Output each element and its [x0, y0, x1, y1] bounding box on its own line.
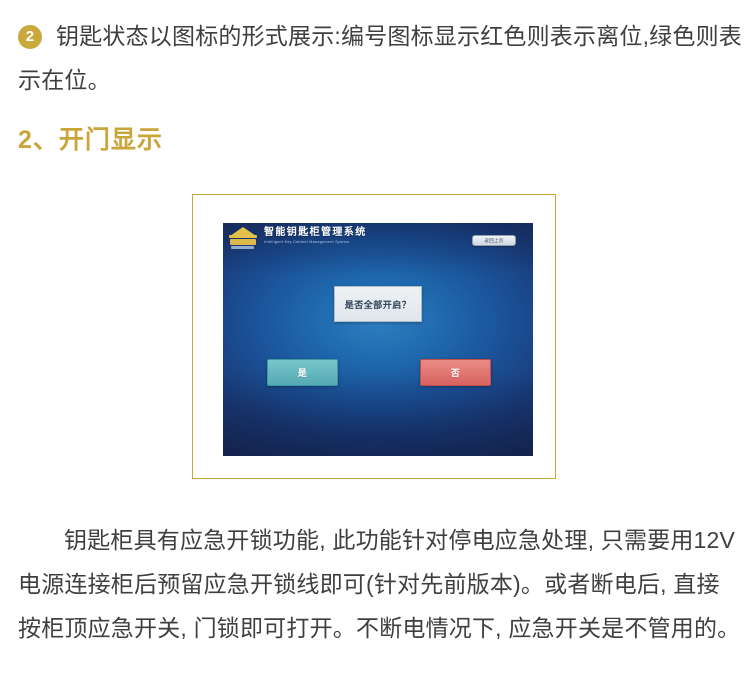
- confirm-dialog-message: 是否全部开启？: [345, 298, 412, 311]
- device-title: 智能钥匙柜管理系统: [264, 227, 367, 239]
- pagoda-roof-logo-icon: [229, 226, 259, 252]
- confirm-no-button[interactable]: 否: [420, 359, 491, 386]
- device-header: 智能钥匙柜管理系统 Intelligent Key Cabinet Manage…: [223, 223, 533, 257]
- back-button[interactable]: 返回上页: [472, 235, 516, 246]
- figure-frame: 智能钥匙柜管理系统 Intelligent Key Cabinet Manage…: [192, 194, 556, 479]
- confirm-dialog: 是否全部开启？: [334, 286, 422, 322]
- device-subtitle: Intelligent Key Cabinet Management Syste…: [264, 239, 367, 246]
- device-screen: 智能钥匙柜管理系统 Intelligent Key Cabinet Manage…: [223, 223, 533, 456]
- confirm-yes-button[interactable]: 是: [267, 359, 338, 386]
- list-number-badge: 2: [18, 25, 42, 49]
- paragraph-key-status: 2钥匙状态以图标的形式展示:编号图标显示红色则表示离位,绿色则表示在位。: [18, 14, 742, 102]
- device-title-block: 智能钥匙柜管理系统 Intelligent Key Cabinet Manage…: [264, 227, 367, 246]
- paragraph-emergency-unlock: 钥匙柜具有应急开锁功能, 此功能针对停电应急处理, 只需要用12V电源连接柜后预…: [18, 518, 742, 650]
- paragraph-key-status-text: 钥匙状态以图标的形式展示:编号图标显示红色则表示离位,绿色则表示在位。: [18, 23, 742, 93]
- section-heading-door-open-display: 2、开门显示: [18, 122, 163, 158]
